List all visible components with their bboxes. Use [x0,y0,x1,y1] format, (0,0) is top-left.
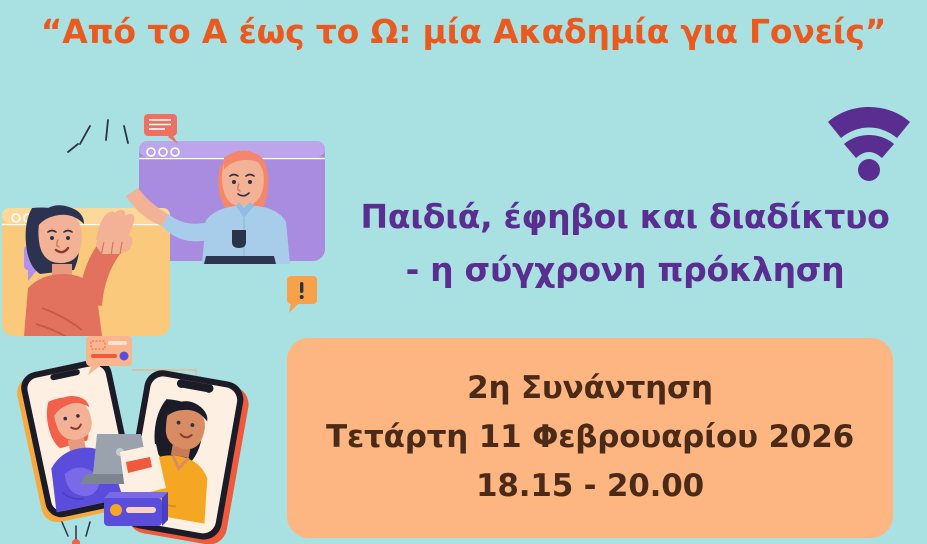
two-smartphones-video-call-illustration [0,330,292,544]
event-details-text: 2η Συνάντηση Τετάρτη 11 Φεβρουαρίου 2026… [287,364,893,511]
event-session-label: 2η Συνάντηση [287,364,893,413]
headline-line-1: Παιδιά, έφηβοι και διαδίκτυο [330,190,920,243]
wifi-icon [824,100,914,182]
page-title: “Από το Α έως το Ω: μία Ακαδημία για Γον… [0,12,927,51]
poster-canvas: “Από το Α έως το Ω: μία Ακαδημία για Γον… [0,0,927,544]
card-bar-purple [104,492,168,526]
spark-lines [68,120,128,152]
event-details-card: 2η Συνάντηση Τετάρτη 11 Φεβρουαρίου 2026… [287,338,893,538]
spark-lines-bottom [62,522,90,540]
spark-dot [72,539,80,544]
alert-bubble-orange [287,276,317,313]
headline-line-2: - η σύγχρονη πρόκληση [330,243,920,296]
message-bubble-red [144,114,178,144]
event-date-label: Τετάρτη 11 Φεβρουαρίου 2026 [287,413,893,462]
event-time-label: 18.15 - 20.00 [287,462,893,511]
headline: Παιδιά, έφηβοι και διαδίκτυο - η σύγχρον… [330,190,920,296]
two-people-high-five-video-call-illustration [0,96,330,336]
